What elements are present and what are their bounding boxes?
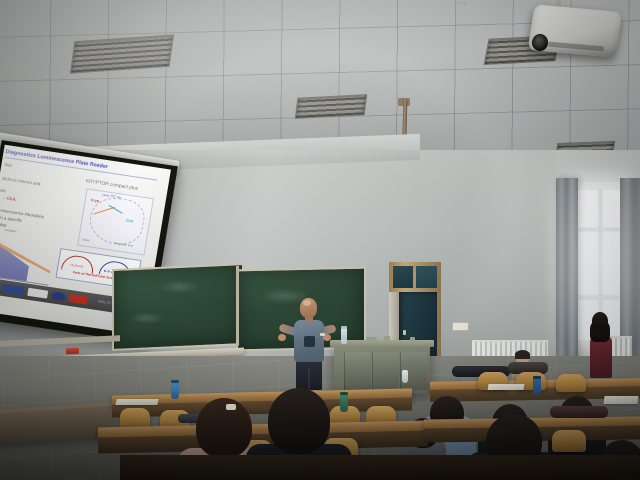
switch-toggle-2[interactable] [459,2,462,5]
bottle-blue-front-cap [171,380,179,383]
bottle-green-cap [340,392,348,395]
slide-bullet-2: dichroic mirrors and [2,176,41,187]
presenter [278,298,334,390]
student-pink-top-head [196,398,252,458]
diagram-foot-left: Delay [82,237,90,242]
chalk-box-red[interactable] [66,348,79,355]
switch-toggle-3[interactable] [463,2,466,5]
bench-foreground [120,455,640,480]
switch-toggle-1[interactable] [454,2,457,5]
door-transom-left [393,266,413,288]
desk-panel-1 [344,352,371,390]
window-mullion-horizontal-top [576,228,624,231]
slide-bullet-3: els [0,188,6,194]
presenter-left-hand [278,334,286,341]
water-bottle-on-desk[interactable] [341,328,347,344]
bottle-blue-front[interactable] [171,382,179,399]
wall-light-switch[interactable] [452,322,469,331]
coat-on-bench-right[interactable] [550,406,608,418]
bottle-clear-right[interactable] [402,370,408,383]
desk-panel-2 [372,352,399,390]
standing-person-maroon-head [592,312,608,330]
slide-bullet-1: that [4,162,12,168]
seat-back-a1[interactable] [120,408,150,428]
curtain-right[interactable] [620,178,640,360]
slide-bullet-4-highlight: – ChAᵢ [3,195,17,202]
door-handle-icon[interactable] [403,330,406,335]
papers-row-a[interactable] [115,399,158,405]
seat-back-r1c[interactable] [556,374,586,392]
door-transom-right [416,266,437,288]
chalkboard-divider [236,266,239,346]
lecture-hall-photo: Diagnostics Luminescence Plate Reader th… [0,0,640,480]
chart-series-blue [0,235,33,282]
chalk-eraser[interactable] [366,337,377,341]
slide-decay-chart: excitation t / µs [0,231,56,287]
chalkboard-panel-left [112,263,244,351]
curtain-left[interactable] [556,178,578,360]
water-bottle-cap [341,326,347,329]
seat-back-r2a[interactable] [552,430,586,452]
student-rear-light-hair [515,350,530,359]
presenter-shirt-graphic [304,336,315,347]
presenter-head-highlight [303,300,311,306]
diagram-label-blue: ChA [126,218,134,223]
student-pink-top-hair-clip [226,404,236,410]
presenter-leg-separation [308,368,310,390]
presenter-wristwatch [320,333,325,336]
bottle-blue-right[interactable] [533,378,541,395]
marker-pen[interactable] [384,336,390,341]
window-mullion-horizontal-bottom [576,296,624,299]
door-transom-mullion [413,265,416,289]
chalk-smudge-3 [130,312,164,324]
standing-person-maroon-body [590,336,612,378]
chart-caption: excitation [4,228,16,234]
papers-right-1[interactable] [487,384,524,390]
student-dark-jacket-head [268,388,330,454]
bottle-blue-right-cap [533,376,541,379]
bottle-green[interactable] [340,394,348,412]
papers-right-2[interactable] [603,396,638,404]
chalk-smudge-1 [160,280,200,294]
remote-clicker[interactable] [410,337,415,342]
